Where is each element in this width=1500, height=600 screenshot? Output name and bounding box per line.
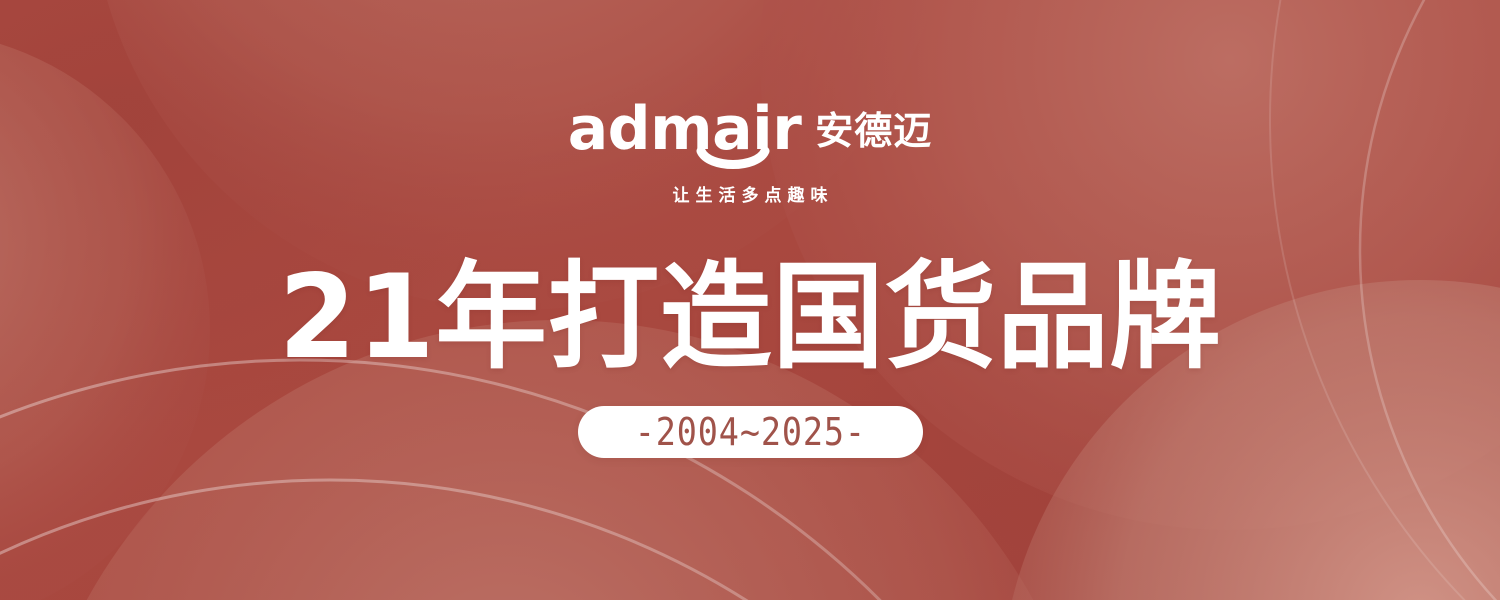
- headline-text: 21年打造国货品牌: [278, 258, 1221, 378]
- year-range-badge: -2004~2025-: [578, 406, 923, 458]
- brand-wordmark: admair: [568, 99, 802, 159]
- brand-logo-lockup: admair 安德迈 让生活多点趣味: [568, 98, 933, 206]
- banner-content: admair 安德迈 让生活多点趣味 21年打造国货品牌 -2004~2025-: [0, 0, 1500, 600]
- year-range-label: -2004~2025-: [634, 413, 865, 451]
- brand-tagline: 让生活多点趣味: [667, 186, 834, 206]
- promo-banner: admair 安德迈 让生活多点趣味 21年打造国货品牌 -2004~2025-: [0, 0, 1500, 600]
- brand-wordmark-chinese: 安德迈: [815, 111, 932, 151]
- logo-row: admair 安德迈: [568, 98, 933, 160]
